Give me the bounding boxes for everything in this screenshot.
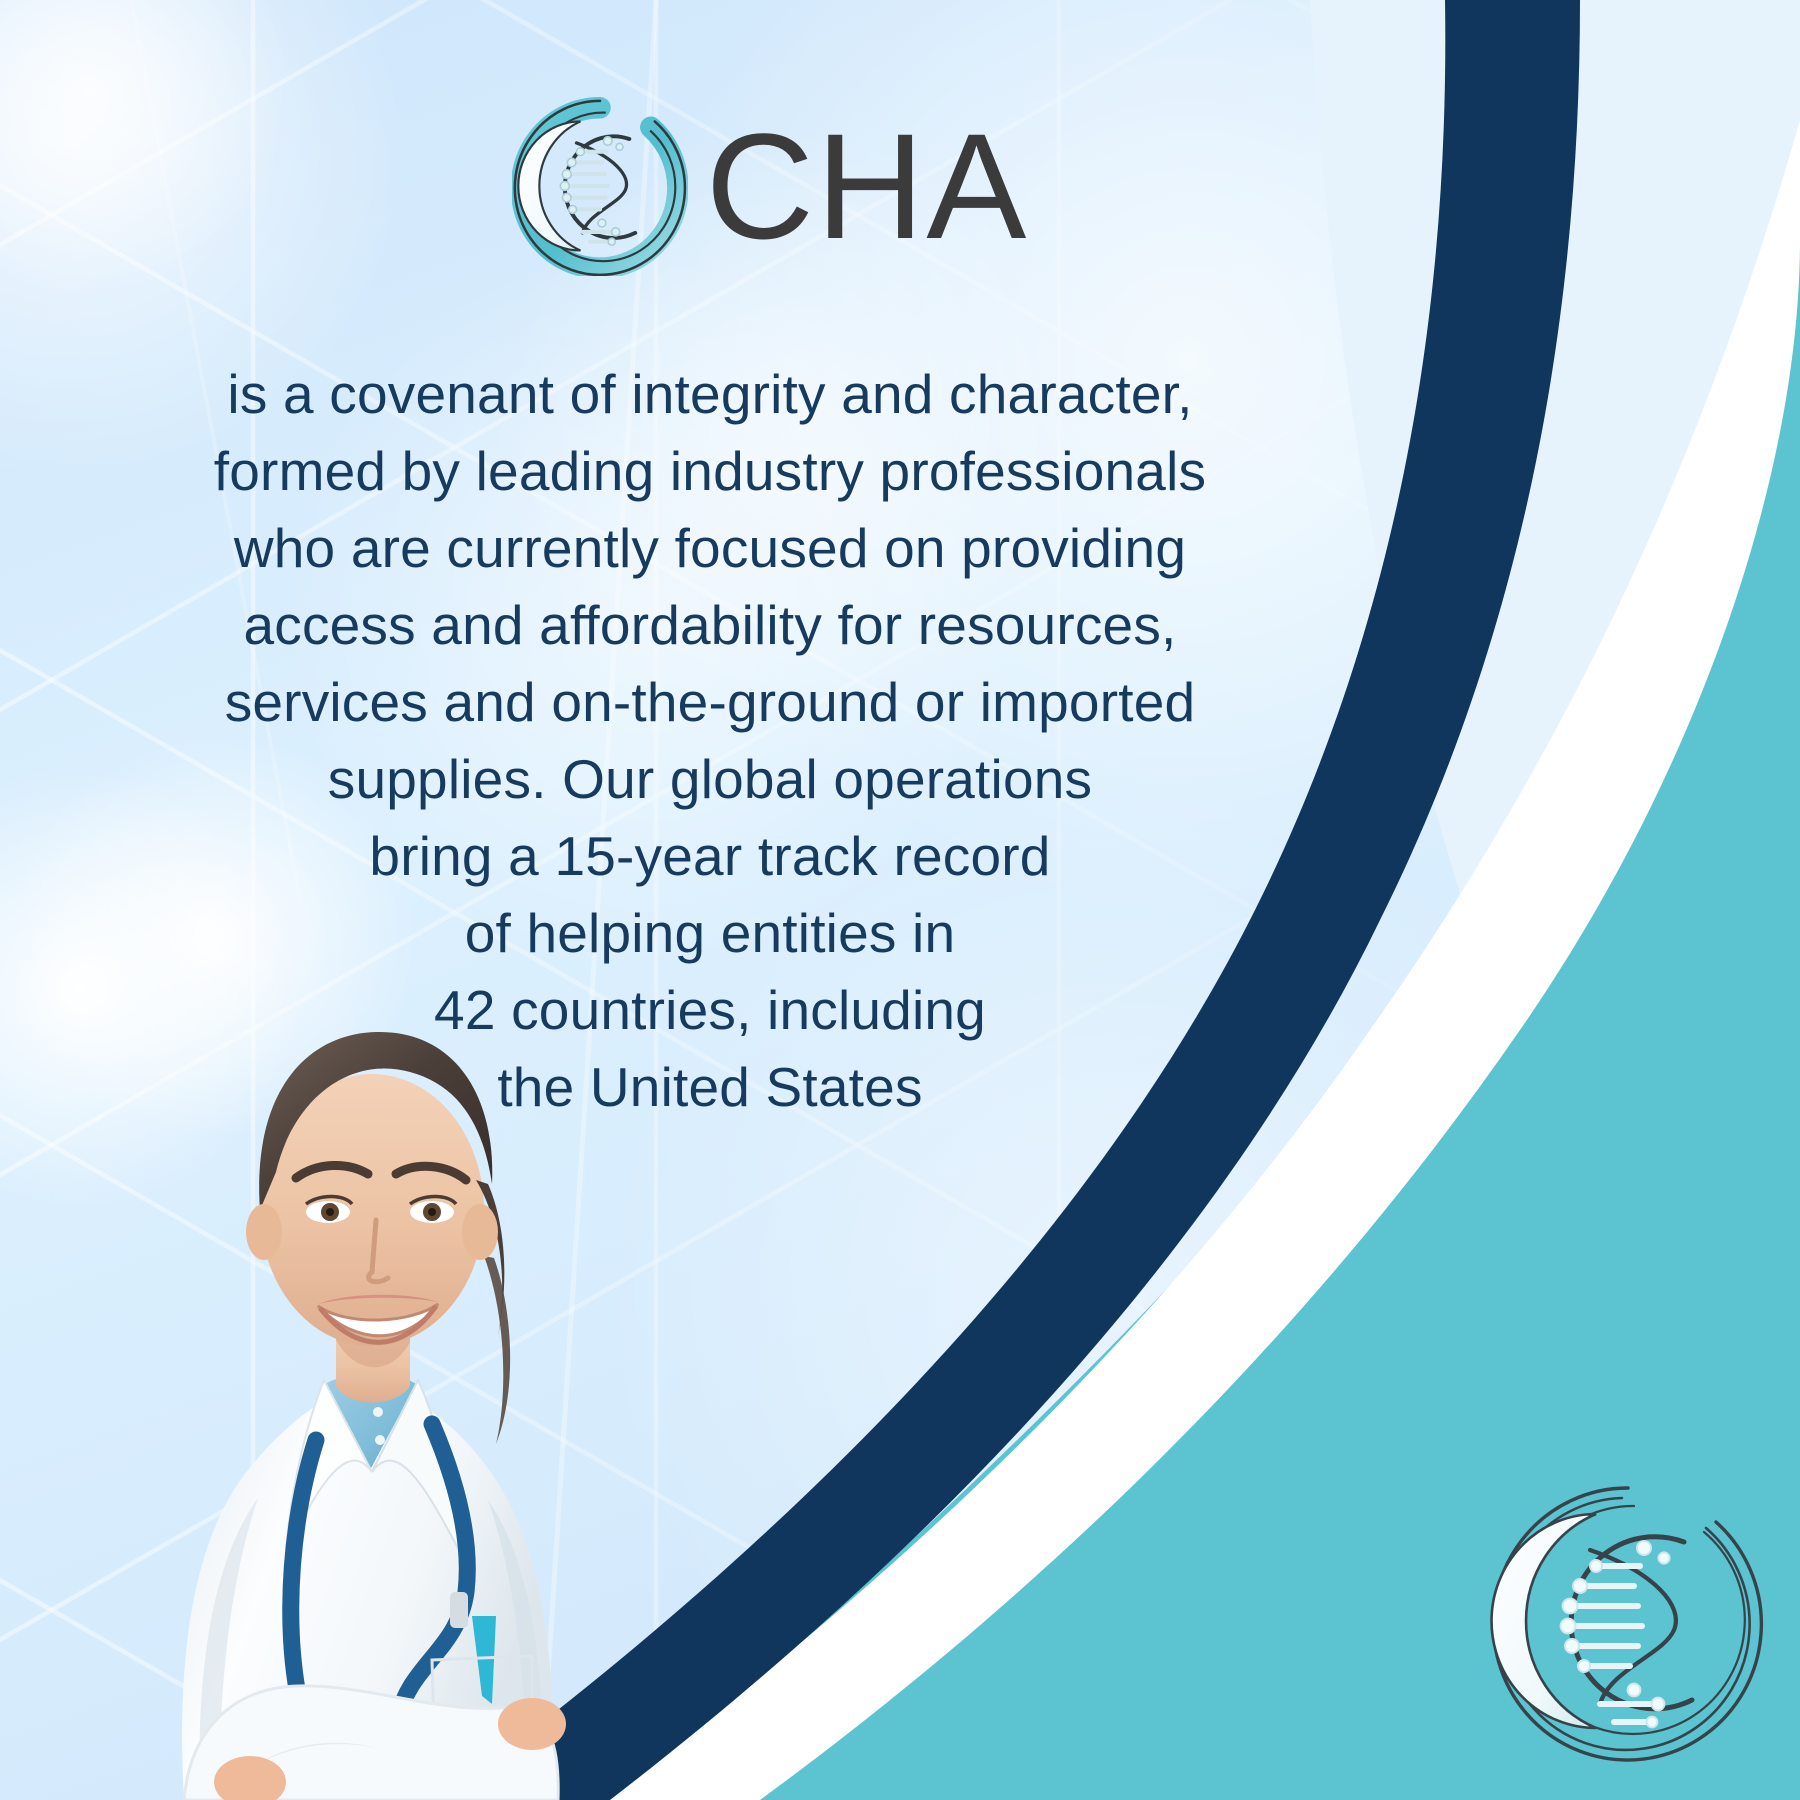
promotional-graphic-canvas: CHA is a covenant of integrity and chara… (0, 0, 1800, 1800)
cha-logo-watermark (1478, 1470, 1778, 1770)
brand-wordmark: CHA (706, 111, 1029, 261)
copy-line-1: is a covenant of integrity and character… (130, 356, 1290, 433)
copy-line-5: services and on-the-ground or imported (130, 664, 1290, 741)
copy-line-4: access and affordability for resources, (130, 587, 1290, 664)
doctor-photo (80, 780, 660, 1800)
cha-logo-icon (512, 96, 688, 276)
copy-line-3: who are currently focused on providing (130, 510, 1290, 587)
copy-line-2: formed by leading industry professionals (130, 433, 1290, 510)
hand-right (498, 1698, 566, 1750)
brand-lockup: CHA (0, 96, 1670, 276)
